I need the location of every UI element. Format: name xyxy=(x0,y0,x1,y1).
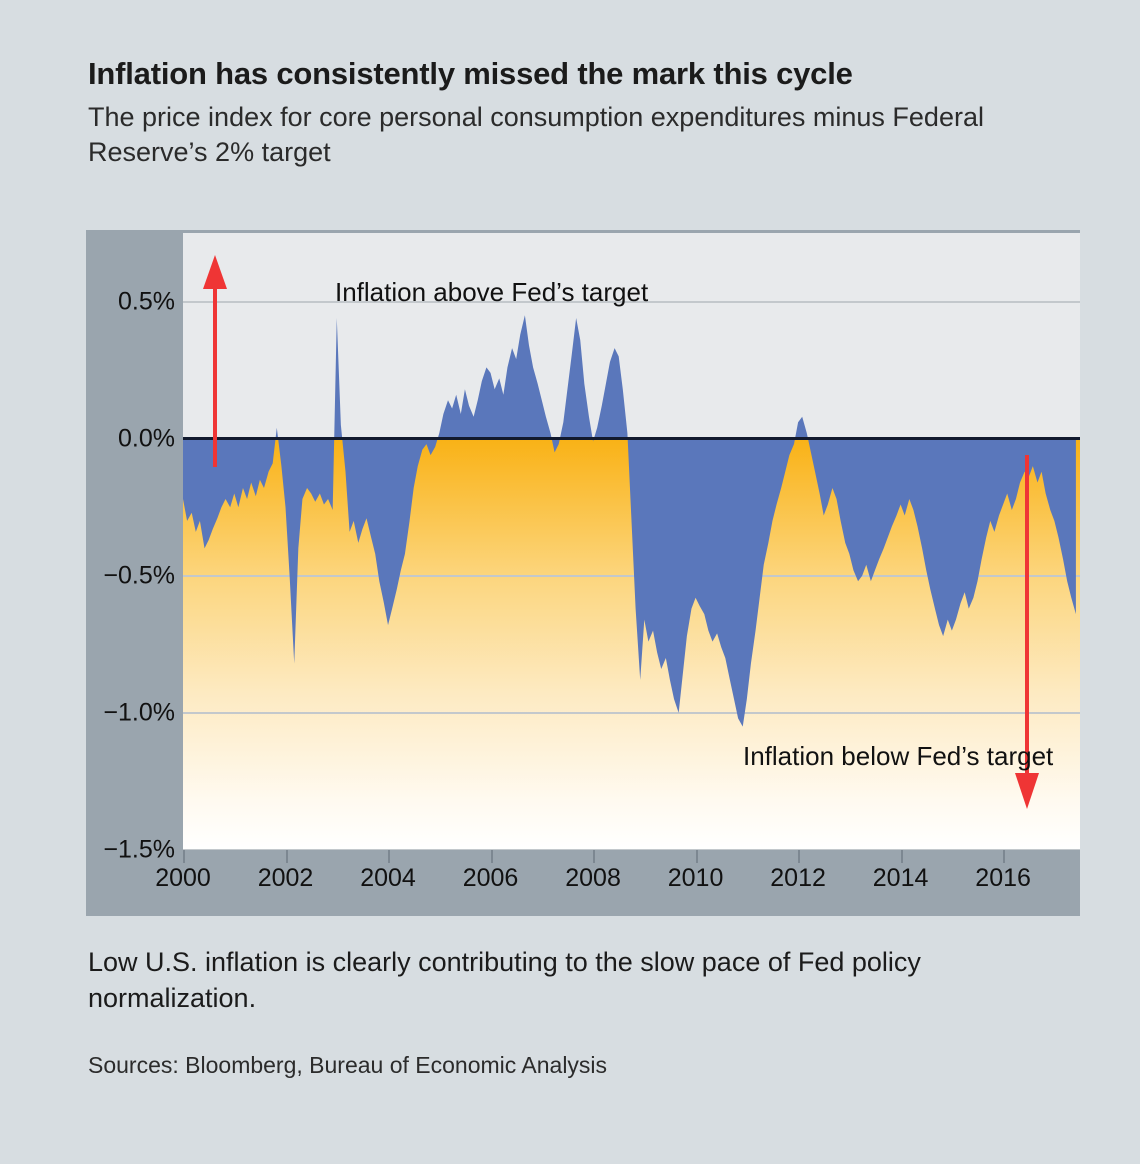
x-axis-label: 2004 xyxy=(360,864,416,893)
y-axis-label: 0.0% xyxy=(118,424,175,453)
x-axis-label: 2010 xyxy=(668,864,724,893)
x-axis: 200020022004200620082010201220142016 xyxy=(183,864,1080,904)
header: Inflation has consistently missed the ma… xyxy=(88,56,1098,170)
x-axis-label: 2006 xyxy=(463,864,519,893)
x-axis-tick xyxy=(901,850,903,863)
y-axis-label: 0.5% xyxy=(118,287,175,316)
page-subtitle: The price index for core personal consum… xyxy=(88,100,1018,170)
x-axis-ticks xyxy=(183,850,1080,864)
x-axis-tick xyxy=(183,850,185,863)
annotation-below-target: Inflation below Fed’s target xyxy=(743,741,1053,772)
x-axis-label: 2000 xyxy=(155,864,211,893)
x-axis-label: 2014 xyxy=(873,864,929,893)
chart-container: 0.5%0.0%−0.5%−1.0%−1.5% Inflation above … xyxy=(86,230,1080,916)
y-axis-label: −0.5% xyxy=(103,561,175,590)
x-axis-tick xyxy=(286,850,288,863)
x-axis-tick xyxy=(798,850,800,863)
y-axis: 0.5%0.0%−0.5%−1.0%−1.5% xyxy=(86,230,183,850)
infographic-page: Inflation has consistently missed the ma… xyxy=(0,0,1140,1164)
chart-sources: Sources: Bloomberg, Bureau of Economic A… xyxy=(88,1052,607,1079)
chart-caption: Low U.S. inflation is clearly contributi… xyxy=(88,944,1008,1017)
x-axis-tick xyxy=(696,850,698,863)
y-axis-label: −1.5% xyxy=(103,836,175,865)
x-axis-label: 2016 xyxy=(975,864,1031,893)
zero-baseline xyxy=(183,437,1080,440)
page-title: Inflation has consistently missed the ma… xyxy=(88,56,1098,92)
annotation-above-target: Inflation above Fed’s target xyxy=(335,277,648,308)
y-axis-label: −1.0% xyxy=(103,698,175,727)
up-arrow-icon xyxy=(201,255,229,467)
x-axis-tick xyxy=(491,850,493,863)
x-axis-label: 2008 xyxy=(565,864,621,893)
x-axis-tick xyxy=(388,850,390,863)
x-axis-tick xyxy=(593,850,595,863)
x-axis-tick xyxy=(1003,850,1005,863)
plot-area: Inflation above Fed’s target Inflation b… xyxy=(183,233,1080,850)
x-axis-label: 2002 xyxy=(258,864,314,893)
x-axis-label: 2012 xyxy=(770,864,826,893)
